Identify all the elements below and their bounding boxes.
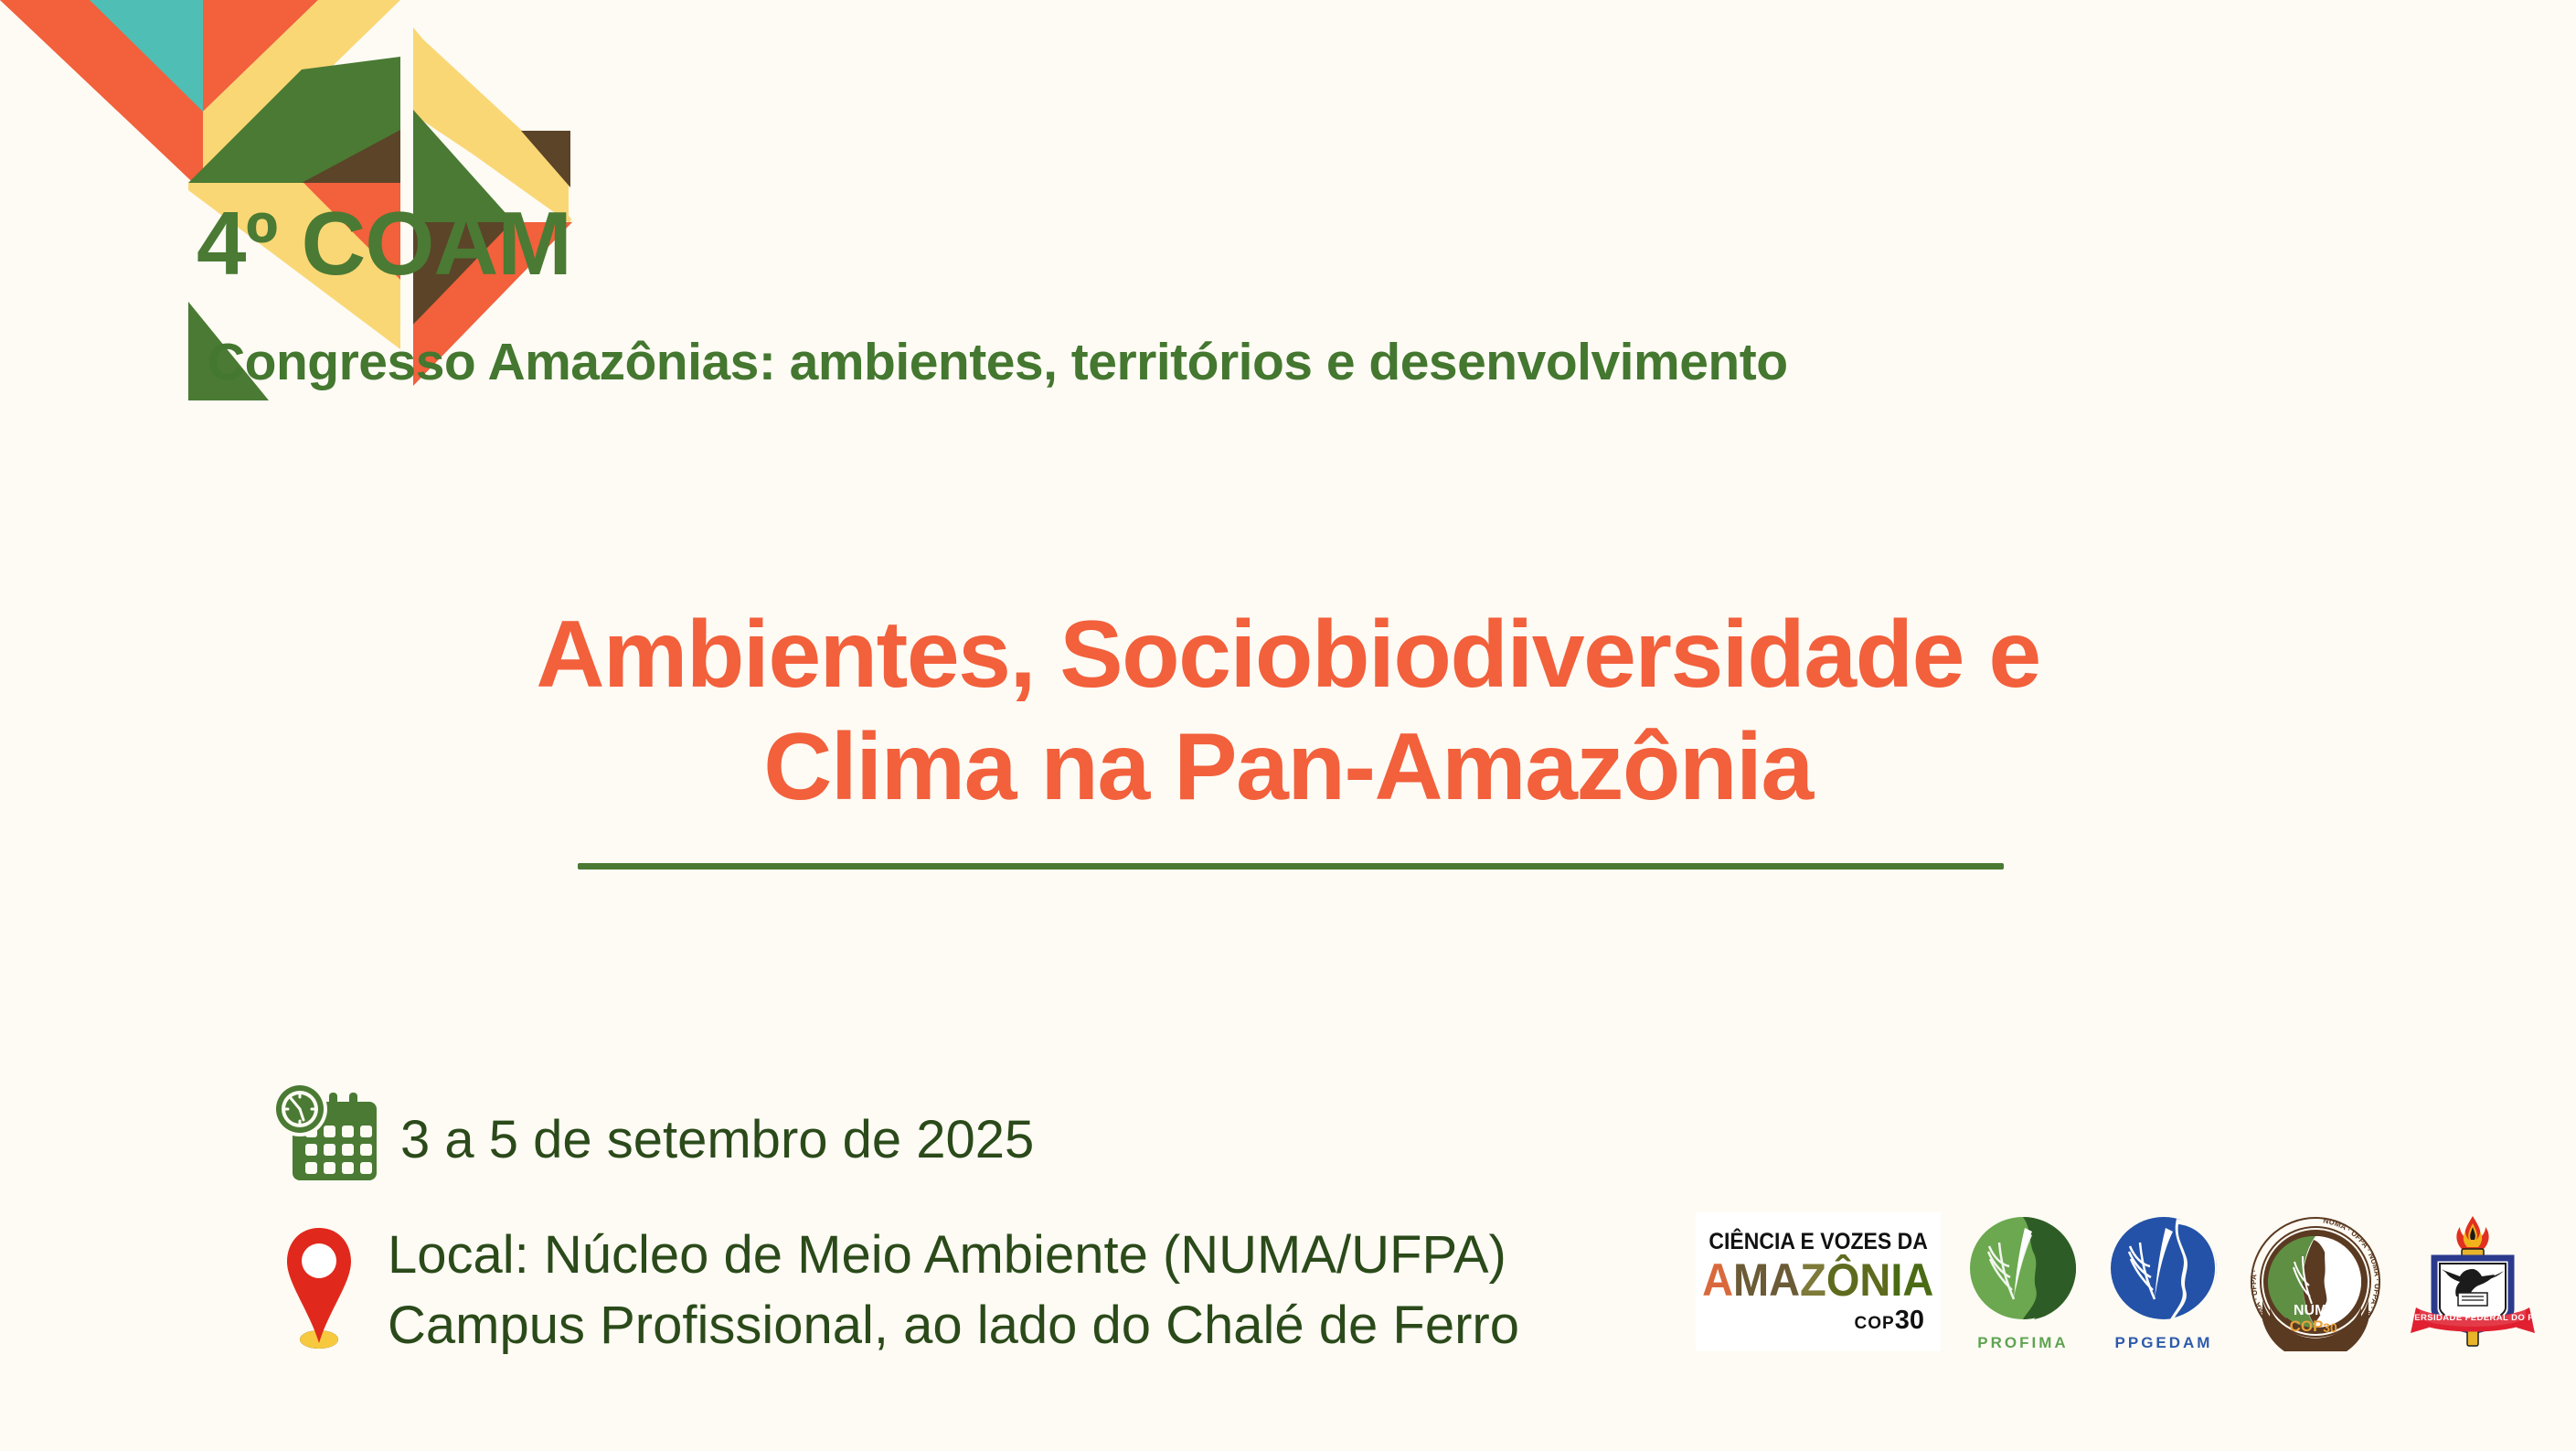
poster-canvas: 4º COAM Congresso Amazônias: ambientes, … (0, 0, 2576, 1451)
event-details-block: 3 a 5 de setembro de 2025 Local: Núcleo … (263, 1083, 1726, 1360)
numa-seal-cop-label: COP (2290, 1318, 2324, 1335)
theme-title-block: Ambientes, Sociobiodiversidade e Clima n… (0, 599, 2576, 823)
event-date-text: 3 a 5 de setembro de 2025 (400, 1105, 1034, 1176)
logo-ppgedam-caption: PPGEDAM (2115, 1334, 2213, 1352)
map-pin-icon (283, 1224, 355, 1352)
logo-cv-line-3: COP30 (1855, 1307, 1924, 1334)
calendar-clock-icon (263, 1078, 380, 1188)
event-full-name-subtitle: Congresso Amazônias: ambientes, territór… (208, 333, 2208, 393)
logo-cv-cop-number: 30 (1895, 1306, 1924, 1335)
ufpa-ribbon-text: UNIVERSIDADE FEDERAL DO PARÁ (2409, 1313, 2537, 1323)
numa-seal-label: NUMA (2294, 1303, 2337, 1318)
theme-divider-rule (578, 863, 2004, 870)
logo-ufpa-coat-of-arms: UNIVERSIDADE FEDERAL DO PARÁ (2409, 1212, 2537, 1351)
profima-face-leaf-icon (1964, 1211, 2081, 1328)
detail-row-location: Local: Núcleo de Meio Ambiente (NUMA/UFP… (263, 1221, 1726, 1360)
header-block: 4º COAM Congresso Amazônias: ambientes, … (197, 197, 2208, 392)
logo-numa-cop30: NUMA COP 30 NUMA · UFPA · NUMA · UFPA · … (2246, 1212, 2385, 1351)
logo-cv-line-2: AMAZÔNIA (1702, 1257, 1933, 1303)
event-number-title: 4º COAM (197, 197, 2208, 291)
logo-cv-line-1: CIÊNCIA E VOZES DA (1708, 1231, 1927, 1254)
theme-title-line-2: Clima na Pan-Amazônia (0, 711, 2576, 824)
theme-title-line-1: Ambientes, Sociobiodiversidade e (0, 599, 2576, 711)
logo-ppgedam: PPGEDAM (2105, 1211, 2222, 1352)
event-location-line-1: Local: Núcleo de Meio Ambiente (NUMA/UFP… (388, 1221, 1519, 1291)
numa-cop30-seal-icon: NUMA COP 30 NUMA · UFPA · NUMA · UFPA · … (2246, 1212, 2385, 1351)
event-location-line-2: Campus Profissional, ao lado do Chalé de… (388, 1291, 1519, 1361)
logo-cv-cop-label: COP (1855, 1314, 1895, 1333)
ppgedam-face-leaf-icon (2105, 1211, 2222, 1328)
logo-profima-caption: PROFIMA (1977, 1334, 2068, 1352)
logo-ciencia-e-vozes-da-amazonia: CIÊNCIA E VOZES DA AMAZÔNIA COP30 (1696, 1212, 1941, 1351)
numa-seal-cop-number: 30 (2323, 1320, 2337, 1335)
logo-profima: PROFIMA (1964, 1211, 2081, 1352)
detail-row-date: 3 a 5 de setembro de 2025 (263, 1083, 1726, 1188)
sponsor-logo-strip: CIÊNCIA E VOZES DA AMAZÔNIA COP30 (1696, 1211, 2537, 1352)
ufpa-coat-of-arms-icon: UNIVERSIDADE FEDERAL DO PARÁ (2409, 1212, 2537, 1351)
